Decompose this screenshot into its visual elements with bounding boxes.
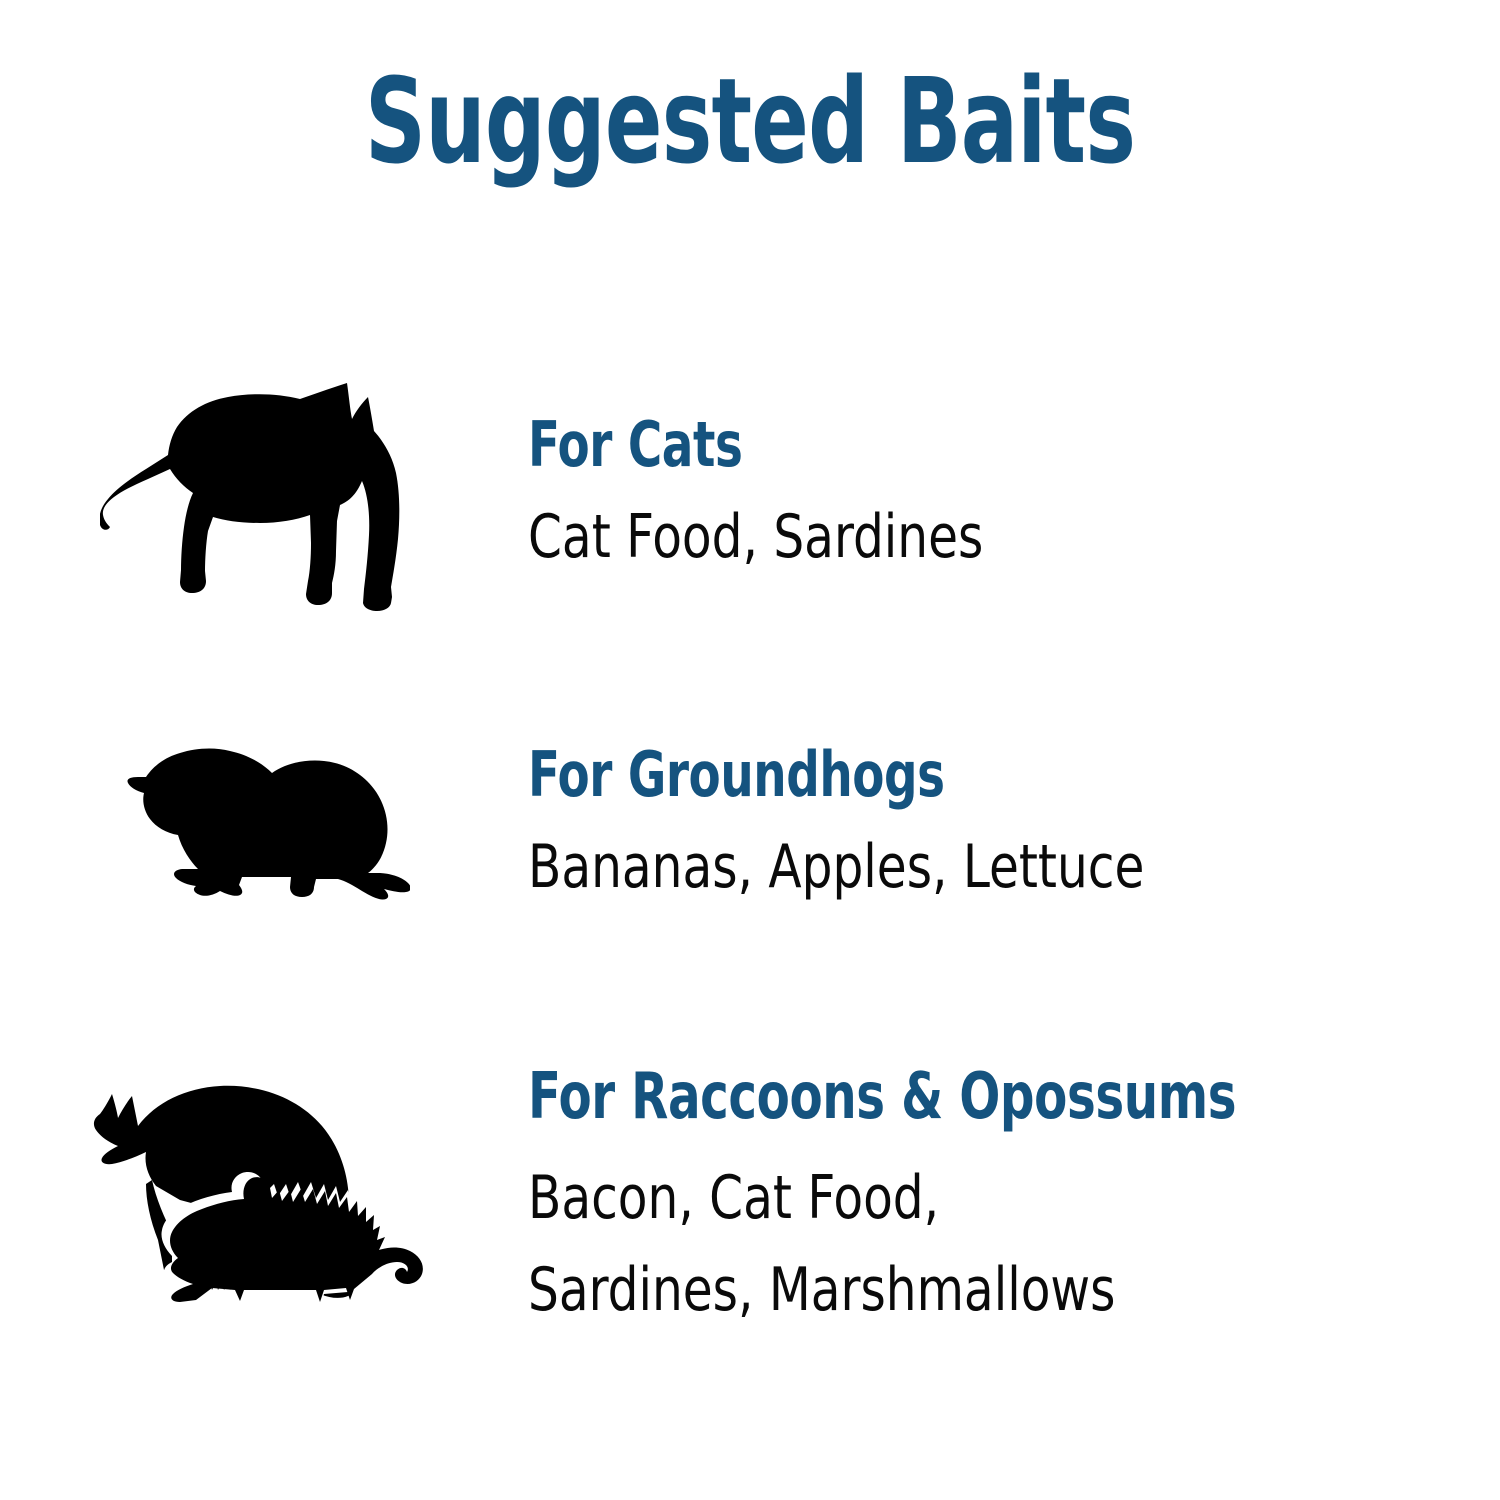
raccoon-opossum-copy: For Raccoons & Opossums Bacon, Cat Food,… <box>520 1064 1500 1336</box>
groundhog-copy: For Groundhogs Bananas, Apples, Lettuce <box>520 742 1500 908</box>
bait-list-raccoons-line-2: Sardines, Marshmallows <box>528 1244 1403 1336</box>
suggested-baits-infographic: Suggested Baits For Cats Cat Food, Sardi… <box>0 0 1500 1500</box>
raccoon-opossum-silhouette-icon <box>60 1080 460 1320</box>
cat-art-container <box>0 370 520 620</box>
cat-copy: For Cats Cat Food, Sardines <box>520 412 1500 578</box>
page-title: Suggested Baits <box>150 62 1350 180</box>
section-heading-raccoons-opossums: For Raccoons & Opossums <box>528 1064 1344 1130</box>
groundhog-silhouette-icon <box>110 735 410 915</box>
section-heading-cats: For Cats <box>528 412 1344 478</box>
bait-list-cats-line-1: Cat Food, Sardines <box>528 496 1403 578</box>
bait-row-raccoons-opossums: For Raccoons & Opossums Bacon, Cat Food,… <box>0 1060 1500 1340</box>
bait-list-raccoons-line-1: Bacon, Cat Food, <box>528 1152 1403 1244</box>
cat-silhouette-icon <box>100 375 420 615</box>
bait-list-groundhogs-line-1: Bananas, Apples, Lettuce <box>528 826 1403 908</box>
section-heading-groundhogs: For Groundhogs <box>528 742 1344 808</box>
bait-row-cats: For Cats Cat Food, Sardines <box>0 370 1500 620</box>
groundhog-art-container <box>0 715 520 935</box>
bait-row-groundhogs: For Groundhogs Bananas, Apples, Lettuce <box>0 715 1500 935</box>
raccoon-opossum-art-container <box>0 1060 520 1340</box>
